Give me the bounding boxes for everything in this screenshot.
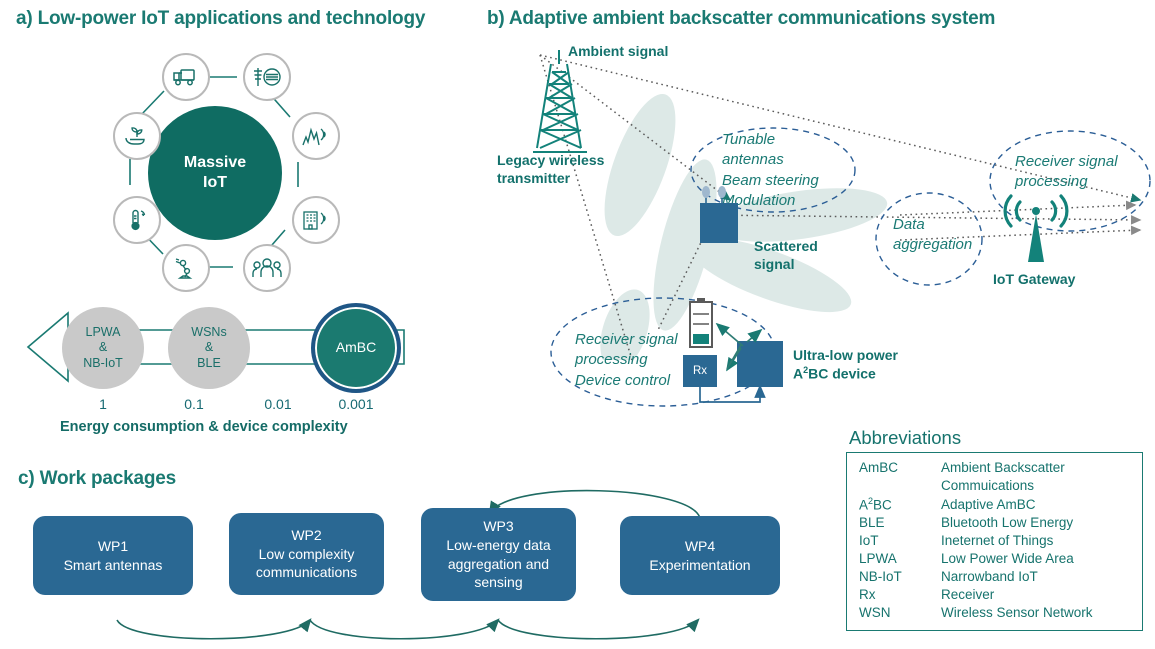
scale-tick-1: 1 [68, 396, 138, 412]
abbr-key: Rx [859, 586, 941, 604]
legacy-transmitter-label-l1: Legacy wireless [497, 152, 604, 170]
abbr-key-cont [859, 477, 941, 496]
scale-circle-line: & [99, 340, 107, 356]
data-aggregation-l2: aggregation [893, 235, 972, 255]
legacy-transmitter-label-l2: transmitter [497, 170, 604, 188]
table-row: WSN Wireless Sensor Network [859, 604, 1093, 622]
hub-icon-people[interactable] [243, 244, 291, 292]
abbr-value-cont: Commuications [941, 477, 1093, 496]
scattered-signal-l2: signal [754, 256, 818, 274]
abbr-key: LPWA [859, 550, 941, 568]
wp-id: WP4 [685, 537, 715, 556]
table-row: Rx Receiver [859, 586, 1093, 604]
energy-scale-caption: Energy consumption & device complexity [60, 419, 348, 435]
abbr-value: Adaptive AmBC [941, 496, 1093, 514]
hub-icon-sensing[interactable] [113, 196, 161, 244]
table-row: IoT Ineternet of Things [859, 532, 1093, 550]
data-aggregation-l1: Data [893, 215, 972, 235]
scale-circle-wsn[interactable]: WSNs & BLE [168, 307, 250, 389]
scattered-signal-label: Scattered signal [754, 238, 818, 273]
figure-root: a) Low-power IoT applications and techno… [0, 0, 1155, 649]
abbr-key: AmBC [859, 459, 941, 477]
work-package-wp4[interactable]: WP4 Experimentation [620, 516, 780, 595]
wp-desc-l1: Low complexity [259, 545, 355, 564]
receiver-left-l3: Device control [575, 371, 678, 391]
scattered-signal-l1: Scattered [754, 238, 818, 256]
abbr-key-post: BC [873, 497, 892, 512]
work-package-wp3[interactable]: WP3 Low-energy data aggregation and sens… [421, 508, 576, 601]
scale-circle-line: NB-IoT [83, 356, 123, 372]
abbr-value: Bluetooth Low Energy [941, 514, 1093, 532]
scale-circle-line: WSNs [191, 325, 226, 341]
abbreviations-title: Abbreviations [849, 427, 961, 449]
abbr-key: A2BC [859, 496, 941, 514]
scale-tick-3: 0.01 [243, 396, 313, 412]
scale-tick-2: 0.1 [159, 396, 229, 412]
table-row: LPWA Low Power Wide Area [859, 550, 1093, 568]
wp-desc-l3: sensing [474, 573, 522, 592]
wp-id: WP3 [483, 517, 513, 536]
smart-building-icon [301, 207, 331, 233]
abbr-value: Ineternet of Things [941, 532, 1093, 550]
table-row: NB-IoT Narrowband IoT [859, 568, 1093, 586]
power-grid-icon [251, 65, 283, 89]
abbr-key: BLE [859, 514, 941, 532]
agriculture-plant-icon [122, 123, 152, 149]
hub-icon-logistics[interactable] [162, 53, 210, 101]
a2bc-device-label: Ultra-low power A2BC device [793, 347, 898, 383]
abbr-key: IoT [859, 532, 941, 550]
a2bc-device-label-l1: Ultra-low power [793, 347, 898, 365]
abbr-value: Narrowband IoT [941, 568, 1093, 586]
scale-circle-line: LPWA [86, 325, 121, 341]
thermometer-icon [124, 207, 150, 233]
abbreviations-box: AmBC Ambient Backscatter Commuications A… [846, 452, 1143, 631]
scale-circle-line: BLE [197, 356, 221, 372]
wp-desc-l2: aggregation and [448, 555, 549, 574]
robot-arm-icon [172, 255, 200, 281]
scale-circle-lpwa[interactable]: LPWA & NB-IoT [62, 307, 144, 389]
smart-city-icon [301, 123, 331, 149]
a2bc-suffix: BC device [808, 365, 876, 381]
receiver-processing-left-text: Receiver signal processing Device contro… [575, 330, 678, 391]
a2bc-device-label-l2: A2BC device [793, 365, 898, 383]
receiver-right-l1: Receiver signal [1015, 152, 1118, 172]
hub-core-line2: IoT [203, 173, 227, 193]
work-package-wp2[interactable]: WP2 Low complexity communications [229, 513, 384, 595]
iot-gateway-label: IoT Gateway [993, 271, 1075, 289]
tunable-line-2: antennas [722, 150, 819, 170]
abbr-value: Receiver [941, 586, 1093, 604]
legacy-transmitter-tower-icon [527, 48, 591, 160]
receiver-left-l1: Receiver signal [575, 330, 678, 350]
work-package-wp1[interactable]: WP1 Smart antennas [33, 516, 193, 595]
abbr-key-text: A [859, 497, 868, 512]
table-row: AmBC Ambient Backscatter [859, 459, 1093, 477]
receiver-processing-right-text: Receiver signal processing [1015, 152, 1118, 193]
hub-icon-agriculture[interactable] [113, 112, 161, 160]
hub-icon-smart-city[interactable] [292, 112, 340, 160]
abbr-key: NB-IoT [859, 568, 941, 586]
wp-desc-l1: Low-energy data [446, 536, 550, 555]
a2bc-prefix: A [793, 365, 803, 381]
wp-desc-l2: communications [256, 563, 357, 582]
abbr-value: Ambient Backscatter [941, 459, 1093, 477]
ambient-signal-label: Ambient signal [568, 43, 668, 61]
hub-icon-robotics[interactable] [162, 244, 210, 292]
abbr-value: Wireless Sensor Network [941, 604, 1093, 622]
data-aggregation-text: Data aggregation [893, 215, 972, 256]
hub-core: Massive IoT [148, 106, 282, 240]
people-icon [251, 257, 283, 279]
hub-icon-utilities[interactable] [243, 53, 291, 101]
wp-id: WP2 [291, 526, 321, 545]
legacy-transmitter-label: Legacy wireless transmitter [497, 152, 604, 187]
scale-tick-4: 0.001 [321, 396, 391, 412]
wp-desc-l1: Smart antennas [64, 556, 163, 575]
middle-backscatter-device[interactable] [700, 203, 738, 243]
tunable-line-1: Tunable [722, 130, 819, 150]
wp-desc-l1: Experimentation [649, 556, 750, 575]
table-row: BLE Bluetooth Low Energy [859, 514, 1093, 532]
table-row: Commuications [859, 477, 1093, 496]
receiver-left-l2: processing [575, 350, 678, 370]
hub-icon-smart-building[interactable] [292, 196, 340, 244]
panel-a-title: a) Low-power IoT applications and techno… [16, 8, 425, 30]
hub-core-line1: Massive [184, 153, 246, 173]
panel-b-title: b) Adaptive ambient backscatter communic… [487, 8, 995, 30]
abbr-value: Low Power Wide Area [941, 550, 1093, 568]
abbr-key: WSN [859, 604, 941, 622]
scale-circle-line: AmBC [336, 339, 376, 357]
truck-icon [171, 65, 201, 89]
iot-gateway-icon [990, 190, 1082, 270]
table-row: A2BC Adaptive AmBC [859, 496, 1093, 514]
scale-circle-ambc[interactable]: AmBC [311, 303, 401, 393]
abbreviations-table: AmBC Ambient Backscatter Commuications A… [859, 459, 1093, 622]
scale-circle-line: & [205, 340, 213, 356]
wp-id: WP1 [98, 537, 128, 556]
